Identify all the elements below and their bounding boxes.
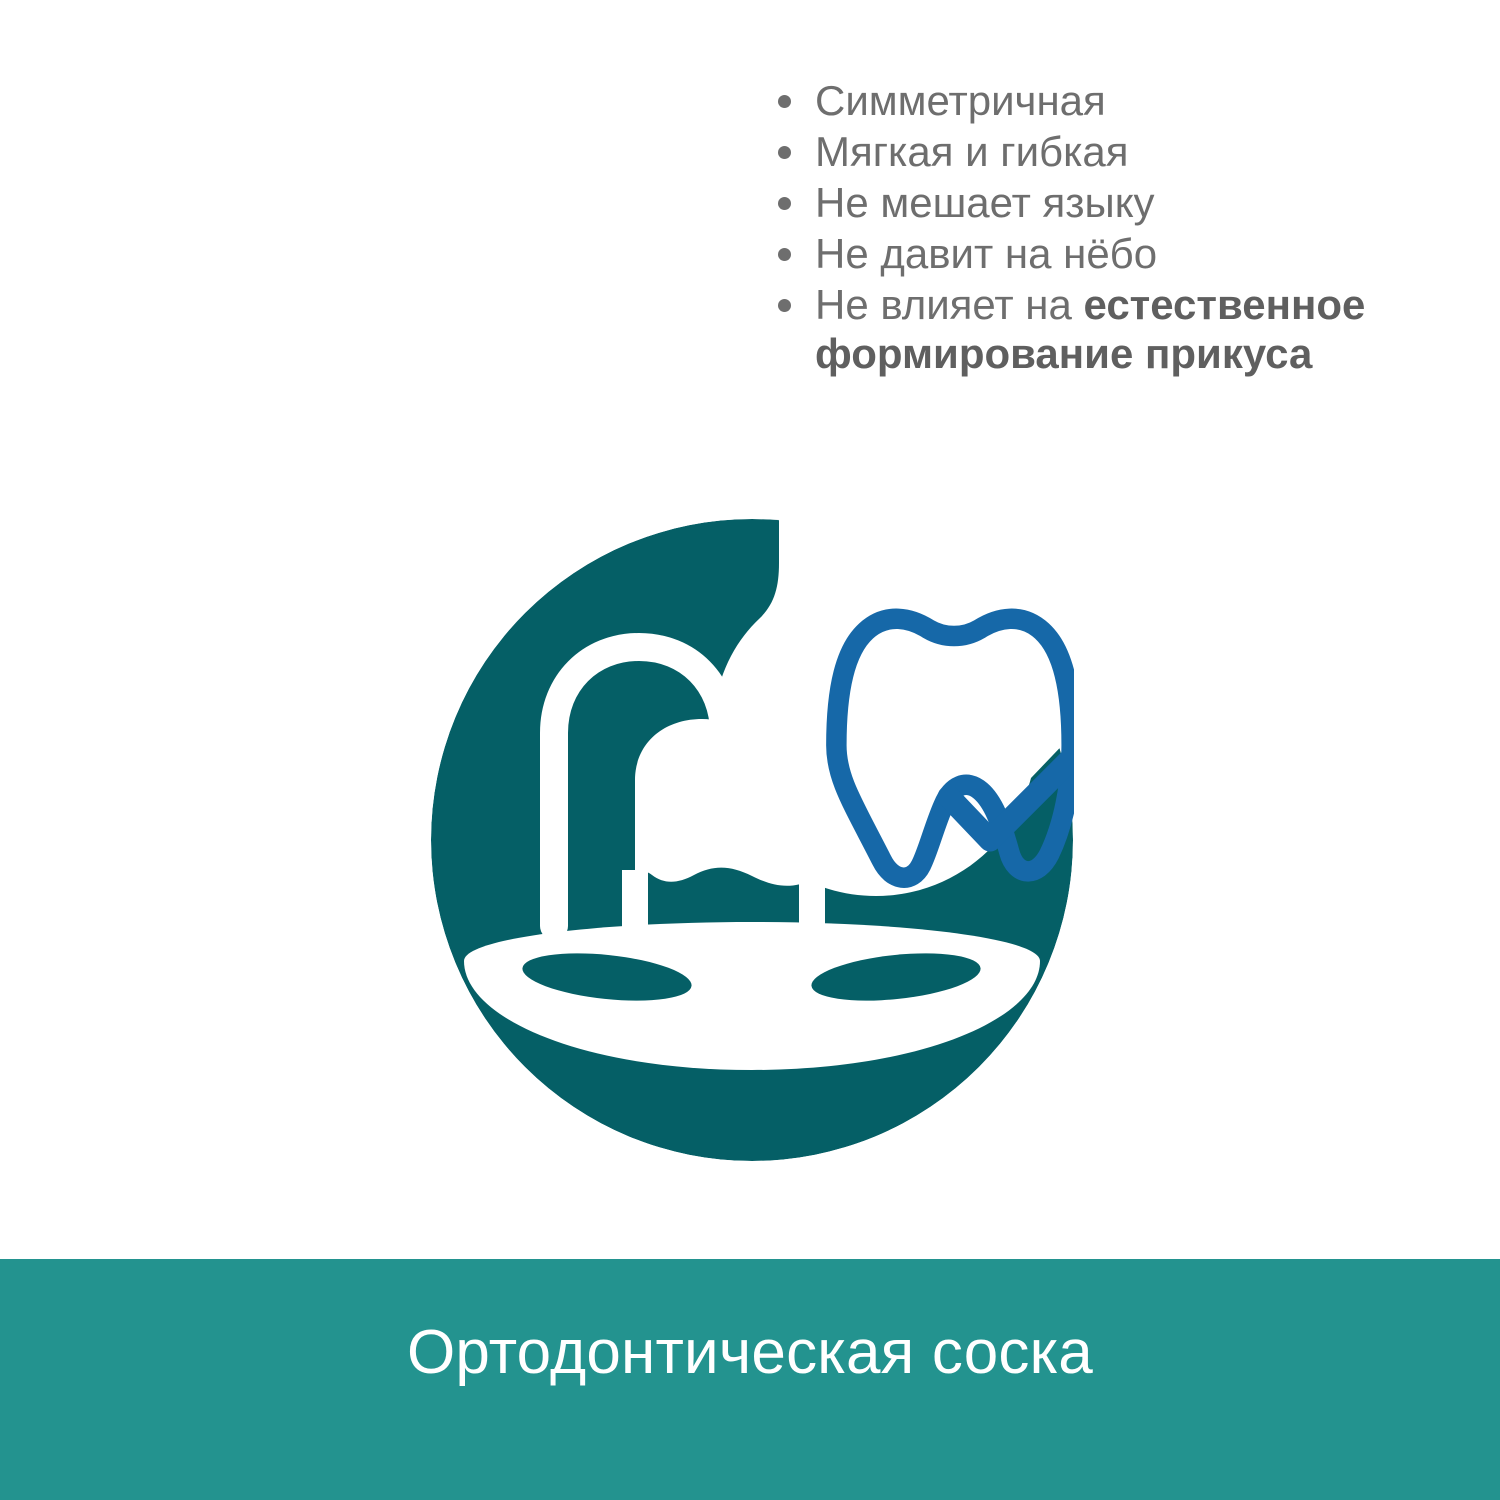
list-item: Не мешает языку xyxy=(778,178,1398,227)
poster-root: Симметричная Мягкая и гибкая Не мешает я… xyxy=(0,0,1500,1500)
bullet-dot-icon xyxy=(778,248,791,261)
bullet-item-label-1: Симметричная xyxy=(815,76,1398,125)
list-item: Не влияет на естественное формирование п… xyxy=(778,280,1398,378)
bullet-dot-icon xyxy=(778,197,791,210)
pacifier-illustration xyxy=(430,518,1074,1162)
bullet-item-label-4: Не давит на нёбо xyxy=(815,229,1398,278)
list-item: Симметричная xyxy=(778,76,1398,125)
bullet-item-label-3: Не мешает языку xyxy=(815,178,1398,227)
bullet-dot-icon xyxy=(778,95,791,108)
bullet-dot-icon xyxy=(778,299,791,312)
list-item: Не давит на нёбо xyxy=(778,229,1398,278)
bullet-dot-icon xyxy=(778,146,791,159)
page-title: Ортодонтическая соска xyxy=(0,1320,1500,1385)
feature-bullet-list: Симметричная Мягкая и гибкая Не мешает я… xyxy=(778,76,1398,380)
bullet-item-label-2: Мягкая и гибкая xyxy=(815,127,1398,176)
list-item: Мягкая и гибкая xyxy=(778,127,1398,176)
bullet-item-label-5: Не влияет на естественное формирование п… xyxy=(815,280,1398,378)
